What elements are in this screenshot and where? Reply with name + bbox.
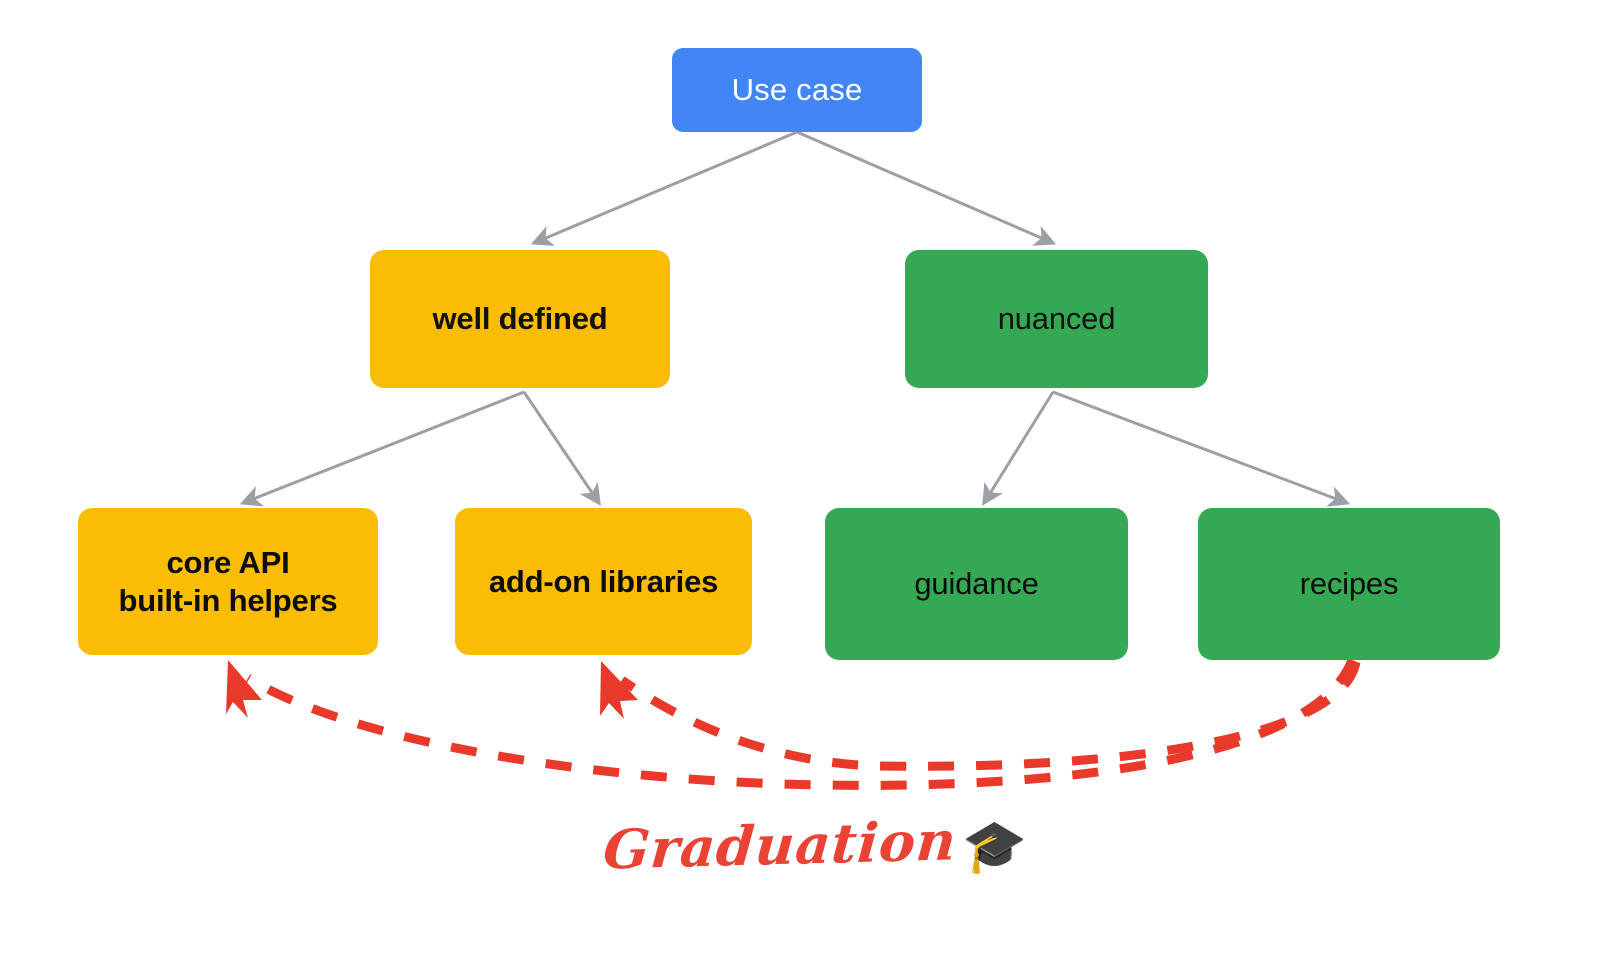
graduation-edge-to-coreapi — [226, 660, 1352, 785]
edge-nuanced-to-recipes — [1053, 392, 1347, 503]
edge-usecase-to-welldefined — [534, 132, 797, 243]
node-recipes[interactable]: recipes — [1198, 508, 1500, 660]
node-guidance-label: guidance — [904, 565, 1048, 603]
graduation-annotation: Graduation 🎓 — [604, 818, 1027, 872]
diagram-canvas: Use case well defined nuanced core API b… — [0, 0, 1600, 963]
graduation-label: Graduation — [601, 813, 958, 876]
edge-welldefined-to-addon — [524, 392, 599, 503]
node-well-defined[interactable]: well defined — [370, 250, 670, 388]
node-recipes-label: recipes — [1290, 565, 1409, 603]
node-use-case[interactable]: Use case — [672, 48, 922, 132]
edge-welldefined-to-coreapi — [243, 392, 524, 503]
node-add-on-libraries[interactable]: add-on libraries — [455, 508, 752, 655]
node-guidance[interactable]: guidance — [825, 508, 1128, 660]
node-core-api[interactable]: core API built-in helpers — [78, 508, 378, 655]
node-well-defined-label: well defined — [422, 300, 617, 338]
edge-nuanced-to-guidance — [984, 392, 1053, 503]
node-core-api-label: core API built-in helpers — [109, 544, 348, 620]
node-nuanced-label: nuanced — [988, 300, 1126, 338]
edge-usecase-to-nuanced — [797, 132, 1053, 243]
node-use-case-label: Use case — [722, 71, 873, 109]
graduation-edge-to-addon — [600, 661, 1356, 766]
graduation-cap-icon: 🎓 — [962, 821, 1027, 873]
node-add-on-libraries-label: add-on libraries — [479, 563, 728, 601]
node-nuanced[interactable]: nuanced — [905, 250, 1208, 388]
